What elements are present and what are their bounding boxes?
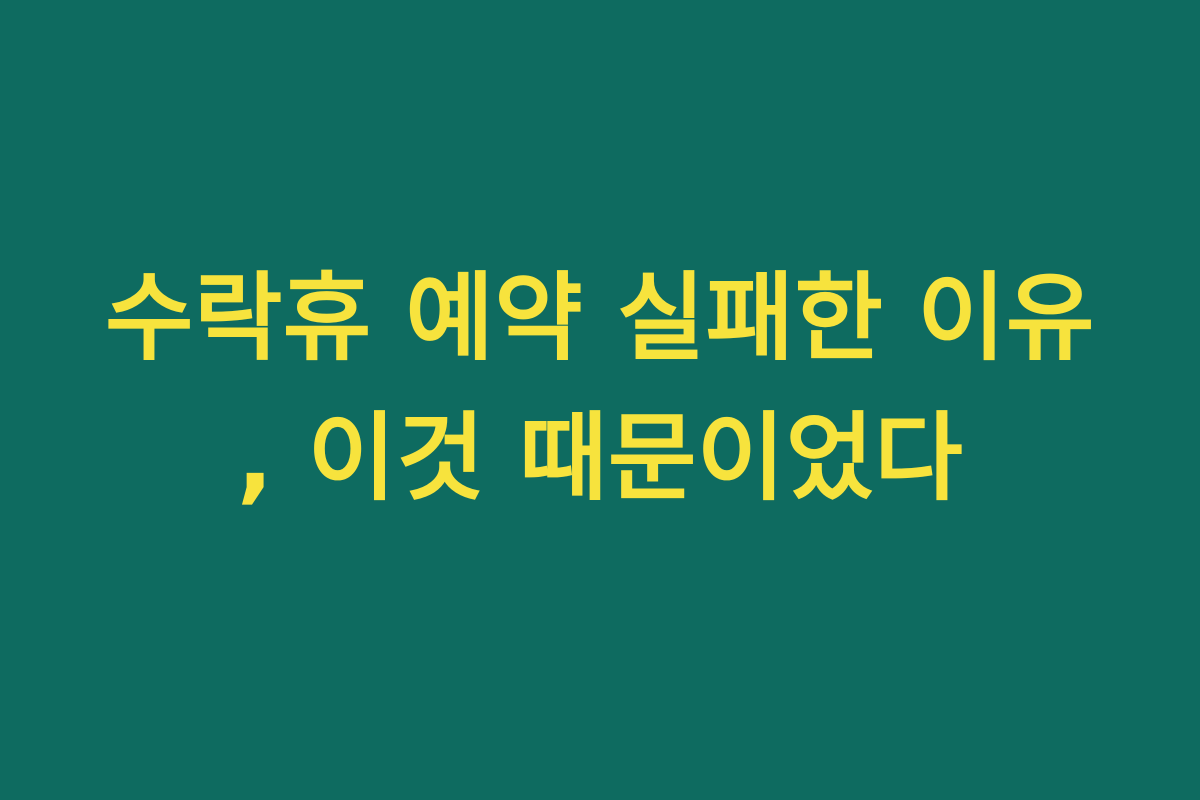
- title-card: 수락휴 예약 실패한 이유 , 이것 때문이었다: [0, 0, 1200, 800]
- title-line-1: 수락휴 예약 실패한 이유: [40, 248, 1160, 388]
- title-text-block: 수락휴 예약 실패한 이유 , 이것 때문이었다: [40, 248, 1160, 528]
- title-line-2: , 이것 때문이었다: [40, 388, 1160, 528]
